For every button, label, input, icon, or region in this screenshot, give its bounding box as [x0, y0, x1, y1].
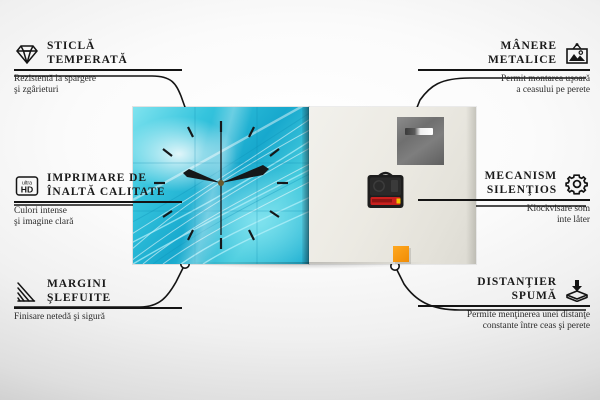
feature-foam-spacer: DISTANŢIER SPUMĂ Permite menţinerea unei…	[418, 276, 590, 332]
feature-title: IMPRIMARE DE ÎNALTĂ CALITATE	[47, 172, 165, 199]
feature-rule	[14, 69, 182, 71]
feature-title: MARGINI ŞLEFUITE	[47, 278, 111, 305]
feature-subtitle: Finisare netedă şi sigură	[14, 312, 182, 323]
hanger-slot	[405, 128, 433, 135]
feature-title: DISTANŢIER SPUMĂ	[477, 276, 557, 303]
feature-subtitle: Rezistentă la spargere şi zgârieturi	[14, 74, 182, 96]
feature-rule	[418, 199, 590, 201]
feature-title: STICLĂ TEMPERATĂ	[47, 40, 128, 67]
feature-rule	[14, 307, 182, 309]
feature-subtitle: Permite menţinerea unei distanţe constan…	[418, 310, 590, 332]
feature-header: MARGINI ŞLEFUITE	[14, 278, 182, 305]
polished-edge-icon	[14, 280, 40, 304]
feature-header: STICLĂ TEMPERATĂ	[14, 40, 182, 67]
ultra-hd-icon: ultra HD	[14, 174, 40, 198]
feature-print-quality: ultra HD IMPRIMARE DE ÎNALTĂ CALITATE Cu…	[14, 172, 182, 228]
feature-rule	[14, 201, 182, 203]
feature-header: DISTANŢIER SPUMĂ	[418, 276, 590, 303]
infographic-canvas: STICLĂ TEMPERATĂ Rezistentă la spargere …	[0, 0, 600, 400]
feature-silent-mechanism: MECANISM SILENŢIOS Klockvisare som inte …	[418, 170, 590, 226]
hour-hand	[183, 169, 221, 183]
orange-foam-spacer	[393, 246, 409, 262]
feature-title: MÂNERE METALICE	[488, 40, 557, 67]
metal-hanger-plate	[397, 117, 444, 165]
feature-rule	[418, 305, 590, 307]
glass-right-edge	[302, 107, 309, 264]
svg-text:HD: HD	[21, 184, 33, 194]
arrow-down-pad-icon	[564, 278, 590, 302]
picture-frame-hanging-icon	[564, 42, 590, 66]
feature-polished-edges: MARGINI ŞLEFUITE Finisare netedă şi sigu…	[14, 278, 182, 323]
clock-mechanism	[363, 167, 408, 212]
feature-title: MECANISM SILENŢIOS	[485, 170, 557, 197]
feature-header: MÂNERE METALICE	[418, 40, 590, 67]
feature-metal-hangers: MÂNERE METALICE Permit montarea uşoară a…	[418, 40, 590, 96]
feature-rule	[418, 69, 590, 71]
feature-header: MECANISM SILENŢIOS	[418, 170, 590, 197]
minute-hand	[221, 165, 269, 183]
feature-subtitle: Culori intense şi imagine clară	[14, 206, 182, 228]
product-shadow	[133, 262, 478, 272]
feature-header: ultra HD IMPRIMARE DE ÎNALTĂ CALITATE	[14, 172, 182, 199]
feature-subtitle: Klockvisare som inte låter	[418, 204, 590, 226]
feature-subtitle: Permit montarea uşoară a ceasului pe per…	[418, 74, 590, 96]
gear-icon	[564, 172, 590, 196]
feature-tempered-glass: STICLĂ TEMPERATĂ Rezistentă la spargere …	[14, 40, 182, 96]
diamond-icon	[14, 42, 40, 66]
